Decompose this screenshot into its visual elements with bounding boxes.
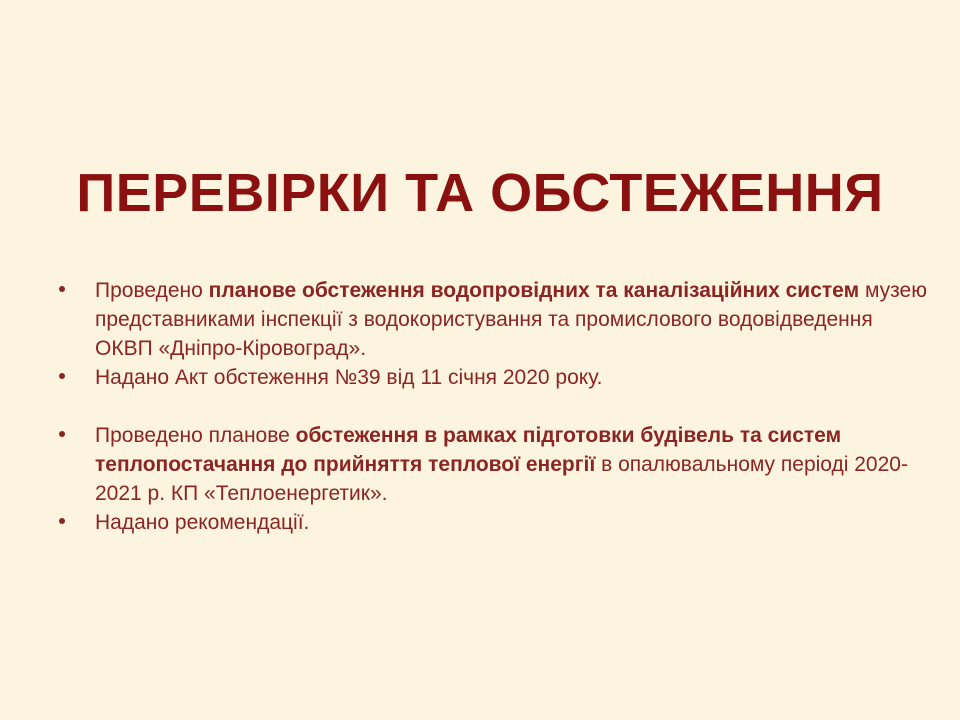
- list-item: Проведено планове обстеження в рамках пі…: [48, 421, 928, 508]
- bullet-point-icon: [55, 421, 69, 450]
- plain-text: Проведено планове: [95, 424, 296, 447]
- bullet-point-icon: [55, 363, 69, 392]
- emphasis-text: планове обстеження водопровідних та кана…: [209, 279, 859, 302]
- list-item: Надано рекомендації.: [48, 508, 928, 537]
- slide-canvas: ПЕРЕВІРКИ ТА ОБСТЕЖЕННЯ Проведено планов…: [0, 0, 960, 720]
- list-item-text: Надано рекомендації.: [95, 508, 928, 537]
- list-item-text: Проведено планове обстеження в рамках пі…: [95, 421, 928, 508]
- list-item: Проведено планове обстеження водопровідн…: [48, 276, 928, 363]
- bullet-point-icon: [55, 508, 69, 537]
- page-title: ПЕРЕВІРКИ ТА ОБСТЕЖЕННЯ: [0, 164, 960, 222]
- list-item-text: Проведено планове обстеження водопровідн…: [95, 276, 928, 363]
- list-spacer: [48, 392, 928, 421]
- list-item: Надано Акт обстеження №39 від 11 січня 2…: [48, 363, 928, 392]
- bullet-point-icon: [55, 276, 69, 305]
- bullet-list: Проведено планове обстеження водопровідн…: [48, 276, 928, 537]
- plain-text: Надано рекомендації.: [95, 511, 309, 534]
- plain-text: Проведено: [95, 279, 209, 302]
- list-item-text: Надано Акт обстеження №39 від 11 січня 2…: [95, 363, 928, 392]
- plain-text: Надано Акт обстеження №39 від 11 січня 2…: [95, 366, 602, 389]
